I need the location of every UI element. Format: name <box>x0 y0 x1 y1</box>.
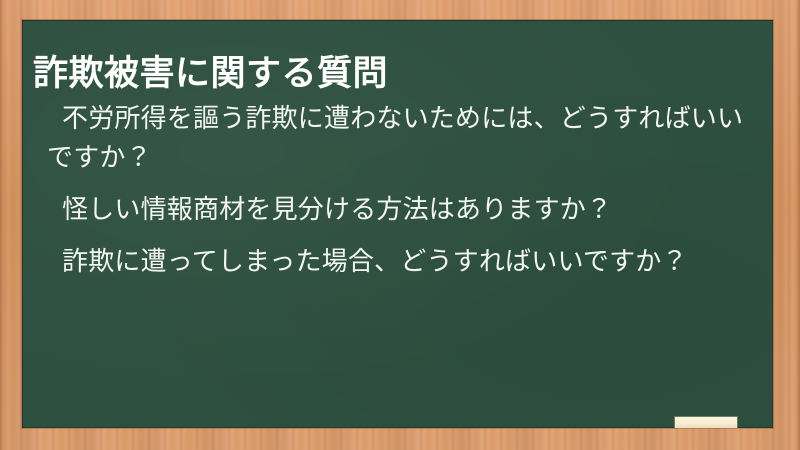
list-item: 怪しい情報商材を見分ける方法はありますか？ <box>47 191 753 230</box>
chalk-piece-icon <box>675 417 737 428</box>
wooden-frame-left-edge <box>0 0 4 450</box>
list-item: 詐欺に遭ってしまった場合、どうすればいいですか？ <box>47 243 753 282</box>
chalkboard-slide: 詐欺被害に関する質問 不労所得を謳う詐欺に遭わないためには、どうすればいいですか… <box>0 0 800 450</box>
page-title: 詐欺被害に関する質問 <box>33 51 753 98</box>
question-list: 不労所得を謳う詐欺に遭わないためには、どうすればいいですか？ 怪しい情報商材を見… <box>47 100 753 282</box>
chalkboard-surface: 詐欺被害に関する質問 不労所得を謳う詐欺に遭わないためには、どうすればいいですか… <box>22 20 773 428</box>
wooden-frame-right-edge <box>796 0 800 450</box>
list-item: 不労所得を謳う詐欺に遭わないためには、どうすればいいですか？ <box>47 100 753 178</box>
